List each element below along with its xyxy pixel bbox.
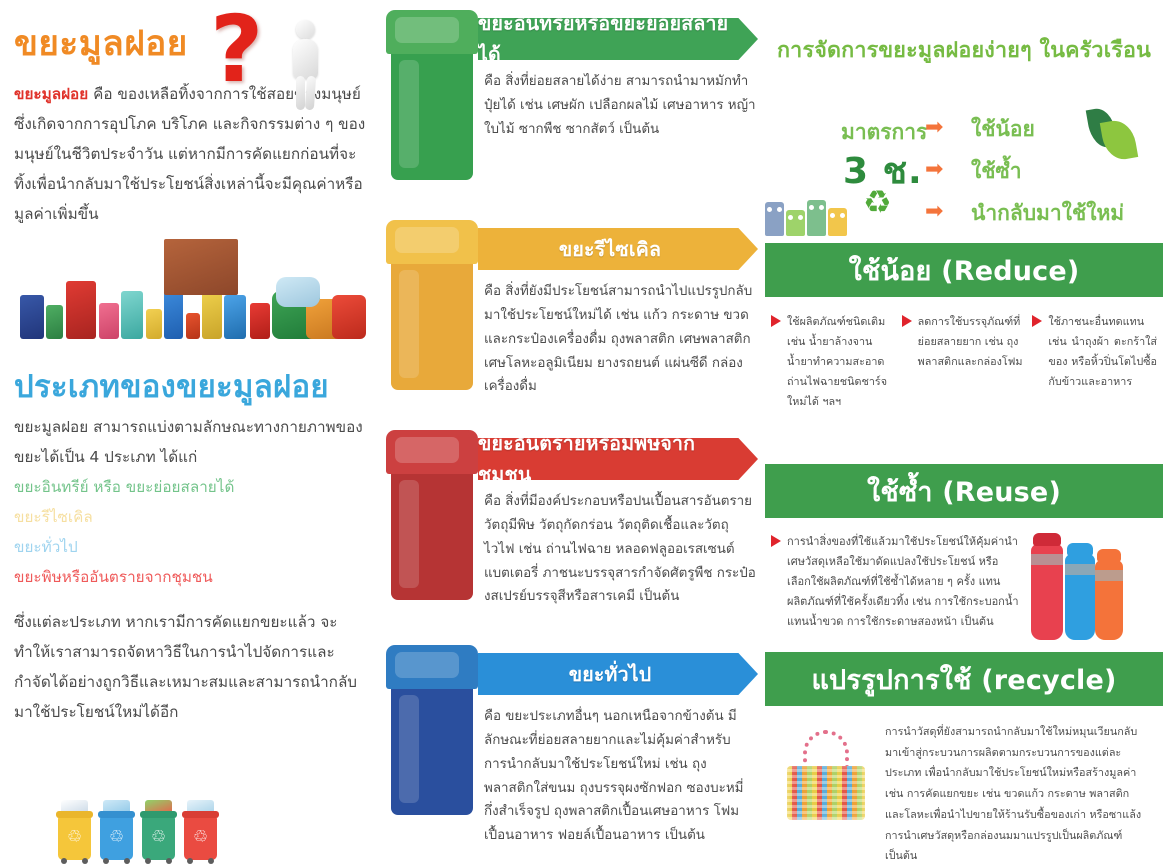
- arrow-right-icon: ➡: [925, 204, 959, 220]
- bullet-arrow-icon: [1032, 315, 1042, 327]
- arrow-right-icon: ➡: [925, 162, 959, 178]
- recycle-bin-yellow-icon: ♲: [58, 816, 91, 860]
- reduce-item-1-text: ใช้ผลิตภัณฑ์ชนิดเติม เช่น น้ำยาล้างจาน น…: [787, 312, 896, 412]
- bottle-blue-icon: [1065, 554, 1095, 640]
- reduce-item-2-text: ลดการใช้บรรจุภัณฑ์ที่ย่อยสลายยาก เช่น ถุ…: [918, 312, 1027, 372]
- reduce-item-2: ลดการใช้บรรจุภัณฑ์ที่ย่อยสลายยาก เช่น ถุ…: [902, 312, 1027, 412]
- category-recycle: ขยะรีไซเคิล คือ สิ่งที่ยังมีประโยชน์สามา…: [380, 210, 765, 420]
- banner-recycle: ขยะรีไซเคิล: [478, 228, 758, 270]
- banner-reuse: ใช้ซ้ำ (Reuse): [765, 464, 1163, 518]
- recycle-glyph: ♲: [58, 829, 91, 846]
- woven-bag-icon: [783, 730, 869, 822]
- person-figure-icon: [288, 20, 322, 108]
- recycle-symbol-icon: ♻: [863, 186, 892, 218]
- reuse-body-wrap: การนำสิ่งของที่ใช้แล้วมาใช้ประโยชน์ให้คุ…: [771, 532, 1021, 632]
- bullet-arrow-icon: [771, 535, 781, 547]
- measure-item-reduce: ใช้น้อย: [971, 113, 1035, 146]
- waste-items-photo: [14, 237, 372, 347]
- measure-item-reuse: ใช้ซ้ำ: [971, 155, 1022, 188]
- bin-green-icon: [386, 10, 478, 180]
- recycle-body-text: การนำวัสดุที่ยังสามารถนำกลับมาใช้ใหม่หมุ…: [885, 722, 1147, 866]
- bottle-orange-icon: [1095, 560, 1123, 640]
- question-mark-icon: ?: [210, 4, 263, 96]
- bin-yellow-icon: [386, 220, 478, 390]
- category-organic-text: คือ สิ่งที่ย่อยสลายได้ง่าย สามารถนำมาหมั…: [484, 70, 756, 142]
- banner-general: ขยะทั่วไป: [478, 653, 758, 695]
- list-item: ขยะรีไซเคิล: [14, 503, 366, 533]
- category-hazard: ขยะอันตรายหรือมีพิษจากชุมชน คือ สิ่งที่ม…: [380, 420, 765, 635]
- right-column: การจัดการขยะมูลฝอยง่ายๆ ในครัวเรือน มาตร…: [765, 0, 1163, 866]
- water-bottles-graphic: [1031, 536, 1139, 640]
- page-title: ขยะมูลฝอย: [14, 24, 188, 64]
- left-column: ? ขยะมูลฝอย ขยะมูลฝอย คือ ของเหลือทิ้งจา…: [0, 0, 380, 866]
- banner-hazard: ขยะอันตรายหรือมีพิษจากชุมชน: [478, 438, 758, 480]
- bin-blue-icon: [386, 645, 478, 815]
- recycle-bin-blue-icon: ♲: [100, 816, 133, 860]
- reuse-body-text: การนำสิ่งของที่ใช้แล้วมาใช้ประโยชน์ให้คุ…: [787, 535, 1019, 628]
- banner-recycle: แปรรูปการใช้ (recycle): [765, 652, 1163, 706]
- bin-red-icon: [386, 430, 478, 600]
- reduce-item-3-text: ใช้ภาชนะอื่นทดแทน เช่น นำถุงผ้า ตะกร้าใส…: [1048, 312, 1157, 392]
- section-title-waste-types: ประเภทของขยะมูลฝอย: [14, 361, 366, 411]
- recycle-bin-green-icon: ♲: [142, 816, 175, 860]
- measure-item-recycle: นำกลับมาใช้ใหม่: [971, 197, 1124, 230]
- intro-highlight: ขยะมูลฝอย: [14, 85, 88, 103]
- middle-column: ขยะอินทรีย์หรือขยะย่อยสลายได้ คือ สิ่งที…: [380, 0, 765, 866]
- reduce-columns: ใช้ผลิตภัณฑ์ชนิดเติม เช่น น้ำยาล้างจาน น…: [765, 312, 1163, 412]
- bin-mascots-graphic: [765, 192, 849, 236]
- recycle-glyph: ♲: [142, 829, 175, 846]
- reduce-item-1: ใช้ผลิตภัณฑ์ชนิดเติม เช่น น้ำยาล้างจาน น…: [771, 312, 896, 412]
- banner-reduce: ใช้น้อย (Reduce): [765, 243, 1163, 297]
- waste-type-list: ขยะอินทรีย์ หรือ ขยะย่อยสลายได้ ขยะรีไซเ…: [14, 473, 366, 592]
- category-hazard-text: คือ สิ่งที่มีองค์ประกอบหรือปนเปื้อนสารอั…: [484, 490, 756, 609]
- question-mark-graphic: ?: [200, 2, 328, 112]
- category-general-text: คือ ขยะประเภทอื่นๆ นอกเหนือจากข้างต้น มี…: [484, 705, 756, 848]
- household-management-heading: การจัดการขยะมูลฝอยง่ายๆ ในครัวเรือน: [773, 33, 1155, 67]
- arrow-right-icon: ➡: [925, 120, 959, 136]
- bullet-arrow-icon: [902, 315, 912, 327]
- list-item: ขยะทั่วไป: [14, 533, 366, 563]
- leaf-icon: [1087, 106, 1141, 164]
- bullet-arrow-icon: [771, 315, 781, 327]
- banner-organic: ขยะอินทรีย์หรือขยะย่อยสลายได้: [478, 18, 758, 60]
- recycle-glyph: ♲: [184, 829, 217, 846]
- section2-body: ขยะมูลฝอย สามารถแบ่งตามลักษณะทางกายภาพขอ…: [14, 413, 366, 473]
- infographic-page: ? ขยะมูลฝอย ขยะมูลฝอย คือ ของเหลือทิ้งจา…: [0, 0, 1163, 866]
- bottle-red-icon: [1031, 544, 1063, 640]
- recycle-bin-red-icon: ♲: [184, 816, 217, 860]
- recycle-glyph: ♲: [100, 829, 133, 846]
- category-recycle-text: คือ สิ่งที่ยังมีประโยชน์สามารถนำไปแปรรูป…: [484, 280, 756, 399]
- category-organic: ขยะอินทรีย์หรือขยะย่อยสลายได้ คือ สิ่งที…: [380, 0, 765, 210]
- recycling-bins-row: ♲ ♲ ♲ ♲: [58, 816, 217, 860]
- reduce-item-3: ใช้ภาชนะอื่นทดแทน เช่น นำถุงผ้า ตะกร้าใส…: [1032, 312, 1157, 412]
- closing-paragraph: ซึ่งแต่ละประเภท หากเรามีการคัดแยกขยะแล้ว…: [14, 608, 366, 727]
- list-item: ขยะอินทรีย์ หรือ ขยะย่อยสลายได้: [14, 473, 366, 503]
- list-item: ขยะพิษหรืออันตรายจากชุมชน: [14, 563, 366, 593]
- category-general: ขยะทั่วไป คือ ขยะประเภทอื่นๆ นอกเหนือจาก…: [380, 635, 765, 850]
